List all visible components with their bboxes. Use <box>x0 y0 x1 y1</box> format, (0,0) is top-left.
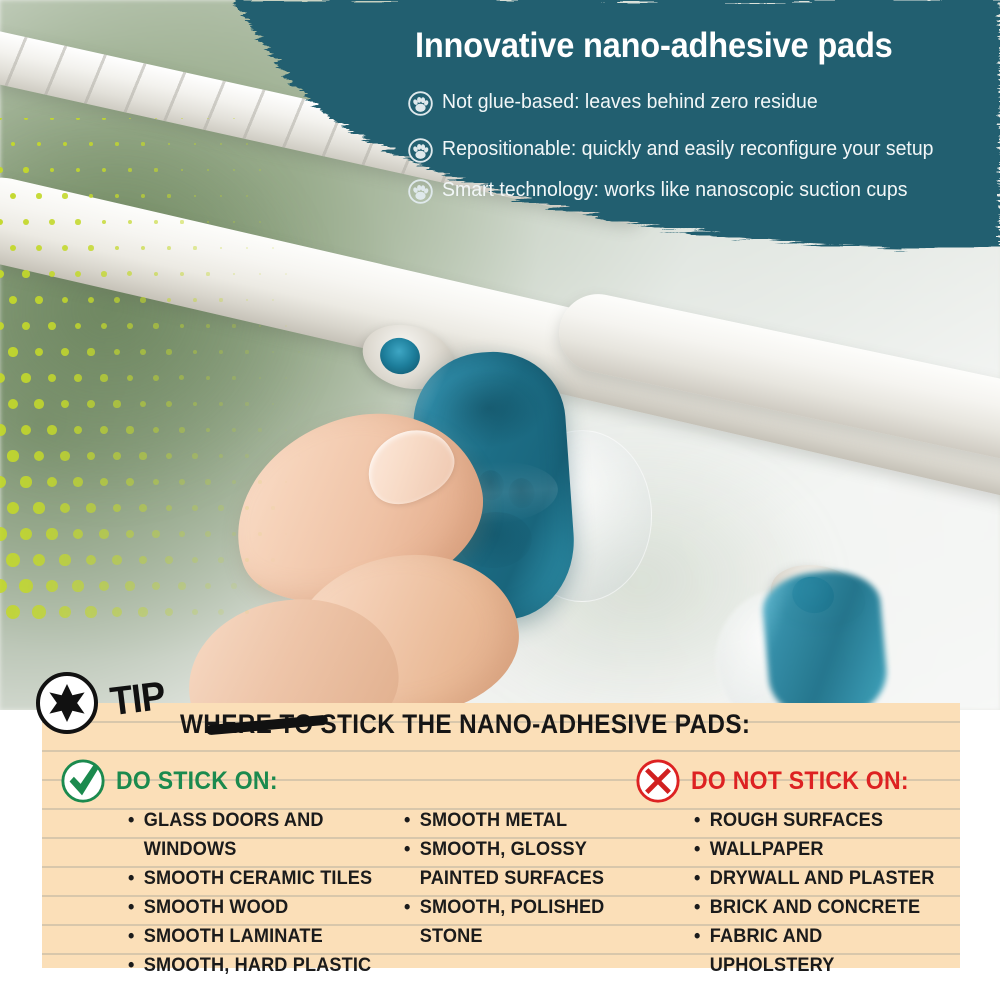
halftone-dot <box>126 530 135 539</box>
halftone-dot <box>47 425 56 434</box>
halftone-dot <box>218 609 224 615</box>
do-stick-label: DO STICK ON: <box>116 767 278 796</box>
halftone-dot <box>298 611 301 614</box>
halftone-dot <box>0 527 7 540</box>
halftone-dot <box>88 245 93 250</box>
tip-badge: TIP <box>36 672 167 734</box>
halftone-dot <box>59 606 71 618</box>
halftone-dot <box>139 556 147 564</box>
green-check-circle-icon <box>60 758 106 804</box>
halftone-dot <box>219 350 223 354</box>
halftone-dot <box>218 505 223 510</box>
halftone-dot <box>99 529 108 538</box>
halftone-dot <box>193 350 197 354</box>
halftone-dot <box>100 478 109 487</box>
halftone-dot <box>246 247 248 249</box>
halftone-dot <box>127 375 133 381</box>
ruled-line <box>42 750 960 752</box>
halftone-dot <box>205 531 211 537</box>
do-stick-list-column-1: GLASS DOORS AND WINDOWSSMOOTH CERAMIC TI… <box>128 806 428 980</box>
halftone-dot <box>232 428 236 432</box>
halftone-dot <box>258 428 261 431</box>
halftone-dot <box>259 377 262 380</box>
halftone-dot <box>179 479 185 485</box>
list-item: SMOOTH LAMINATE <box>128 922 407 951</box>
halftone-dot <box>46 528 57 539</box>
halftone-dot <box>62 245 68 251</box>
halftone-dot <box>87 452 96 461</box>
halftone-dot <box>113 400 120 407</box>
halftone-dot <box>179 531 186 538</box>
halftone-dot <box>126 478 134 486</box>
halftone-dot <box>284 584 287 587</box>
halftone-dot <box>285 481 288 484</box>
halftone-dot <box>166 401 172 407</box>
list-item: FABRIC AND UPHOLSTERY <box>694 922 945 980</box>
halftone-dot <box>33 554 45 566</box>
halftone-dot <box>180 272 184 276</box>
halftone-dot <box>74 426 83 435</box>
do-not-stick-list: ROUGH SURFACESWALLPAPERDRYWALL AND PLAST… <box>694 806 964 980</box>
halftone-dot <box>99 581 109 591</box>
halftone-dot <box>245 558 249 562</box>
halftone-dot <box>10 245 17 252</box>
halftone-dot <box>272 455 275 458</box>
halftone-dot <box>153 375 159 381</box>
halftone-dot <box>245 350 248 353</box>
halftone-dot <box>245 610 250 615</box>
do-not-stick-header: DO NOT STICK ON: <box>635 758 928 804</box>
list-item: SMOOTH, GLOSSY PAINTED SURFACES <box>404 835 627 893</box>
halftone-dot <box>35 296 42 303</box>
halftone-dot <box>100 426 108 434</box>
list-item: BRICK AND CONCRETE <box>694 893 945 922</box>
halftone-dot <box>166 453 172 459</box>
list-item: SMOOTH METAL <box>404 806 627 835</box>
halftone-dot <box>219 402 223 406</box>
halftone-dot <box>48 322 56 330</box>
halftone-dot <box>59 554 70 565</box>
halftone-dot <box>35 348 43 356</box>
halftone-dot <box>205 479 210 484</box>
halftone-dot <box>206 272 209 275</box>
halftone-dot <box>206 376 210 380</box>
halftone-dot <box>271 610 275 614</box>
halftone-dot <box>272 299 274 301</box>
halftone-dot <box>88 297 94 303</box>
halftone-dot <box>165 608 173 616</box>
halftone-dot <box>75 271 81 277</box>
halftone-dot <box>21 425 31 435</box>
halftone-dot <box>0 373 5 383</box>
halftone-dot <box>285 377 287 379</box>
list-item: SMOOTH, POLISHED STONE <box>404 893 627 951</box>
halftone-dot <box>311 533 313 535</box>
halftone-dot <box>311 429 313 431</box>
halftone-dot <box>46 580 58 592</box>
page-title: Innovative nano-adhesive pads <box>415 28 950 65</box>
halftone-dot <box>0 579 7 593</box>
halftone-dot <box>115 246 120 251</box>
halftone-dot <box>193 402 198 407</box>
halftone-dot <box>75 323 82 330</box>
halftone-dot <box>9 296 17 304</box>
halftone-dot <box>22 322 30 330</box>
halftone-dot <box>180 324 184 328</box>
halftone-dot <box>232 532 237 537</box>
halftone-dot <box>219 298 222 301</box>
halftone-dot <box>8 347 17 356</box>
halftone-dot <box>233 273 236 276</box>
halftone-dot <box>139 504 147 512</box>
paw-print-icon <box>408 179 433 204</box>
paw-print-icon <box>408 91 433 116</box>
list-item: GLASS DOORS AND WINDOWS <box>128 806 407 864</box>
feature-bullet: Smart technology: works like nanoscopic … <box>408 178 998 204</box>
halftone-dot <box>324 611 326 613</box>
halftone-dot <box>285 429 287 431</box>
halftone-dot <box>192 609 199 616</box>
halftone-dot <box>86 503 96 513</box>
halftone-dot <box>73 477 83 487</box>
halftone-dot <box>101 323 107 329</box>
halftone-dot <box>113 504 122 513</box>
halftone-dot <box>139 452 146 459</box>
feature-bullet-label: Not glue-based: leaves behind zero resid… <box>442 90 818 114</box>
halftone-dot <box>153 427 159 433</box>
halftone-dot <box>8 399 18 409</box>
halftone-dot <box>285 325 287 327</box>
halftone-dot <box>298 403 300 405</box>
halftone-dot <box>193 298 197 302</box>
halftone-dot <box>127 323 133 329</box>
halftone-dot <box>232 480 236 484</box>
halftone-dot <box>140 349 146 355</box>
halftone-dot <box>87 400 95 408</box>
halftone-dot <box>259 325 262 328</box>
halftone-dot <box>20 476 31 487</box>
halftone-dot <box>245 454 249 458</box>
list-item: SMOOTH CERAMIC TILES <box>128 864 407 893</box>
halftone-dot <box>112 555 121 564</box>
halftone-dot <box>219 454 224 459</box>
do-stick-header: DO STICK ON: <box>60 758 292 804</box>
halftone-dot <box>192 557 198 563</box>
halftone-dot <box>62 297 69 304</box>
halftone-dot <box>192 505 198 511</box>
halftone-dot <box>0 424 6 435</box>
halftone-dot <box>271 558 275 562</box>
halftone-dot <box>86 555 96 565</box>
halftone-dot <box>73 529 83 539</box>
halftone-dot <box>178 582 185 589</box>
list-item: DRYWALL AND PLASTER <box>694 864 945 893</box>
halftone-dot <box>138 607 147 616</box>
halftone-dot <box>152 530 160 538</box>
halftone-dot <box>49 271 56 278</box>
halftone-dot <box>298 351 300 353</box>
halftone-dot <box>272 403 275 406</box>
halftone-dot <box>259 273 261 275</box>
halftone-dot <box>245 402 248 405</box>
socket-hole <box>376 334 424 379</box>
halftone-dot <box>126 426 133 433</box>
list-item: ROUGH SURFACES <box>694 806 945 835</box>
halftone-dot <box>140 297 145 302</box>
halftone-dot <box>311 585 313 587</box>
halftone-dot <box>21 373 30 382</box>
halftone-dot <box>166 505 173 512</box>
halftone-dot <box>125 581 134 590</box>
halftone-dot <box>85 606 96 617</box>
list-item: SMOOTH, HARD PLASTIC <box>128 951 407 980</box>
halftone-dot <box>154 272 158 276</box>
halftone-dot <box>152 582 160 590</box>
halftone-dot <box>114 349 120 355</box>
halftone-dot <box>245 506 249 510</box>
halftone-dot <box>166 349 171 354</box>
halftone-dot <box>36 245 42 251</box>
halftone-dot <box>34 451 44 461</box>
halftone-dot <box>285 533 288 536</box>
halftone-dot <box>60 503 70 513</box>
halftone-dot <box>19 579 32 592</box>
halftone-dot <box>6 553 19 566</box>
halftone-dot <box>127 271 132 276</box>
halftone-dot <box>87 348 94 355</box>
halftone-dot <box>231 583 236 588</box>
halftone-dot <box>0 270 4 278</box>
halftone-dot <box>60 451 70 461</box>
halftone-dot <box>7 502 19 514</box>
header-content: Innovative nano-adhesive pads Not glue-b… <box>0 0 1000 240</box>
halftone-dot <box>167 246 171 250</box>
halftone-dot <box>206 324 210 328</box>
halftone-dot <box>285 273 287 275</box>
halftone-dot <box>205 583 211 589</box>
tip-label: TIP <box>108 673 168 724</box>
nano-adhesive-pad-secondary <box>760 567 890 710</box>
halftone-dot <box>193 246 196 249</box>
list-item: WALLPAPER <box>694 835 945 864</box>
halftone-dot <box>218 557 223 562</box>
halftone-dot <box>61 400 70 409</box>
halftone-dot <box>32 605 45 618</box>
halftone-dot <box>34 399 43 408</box>
halftone-dot <box>192 453 197 458</box>
feature-bullet-label: Repositionable: quickly and easily recon… <box>442 137 933 161</box>
halftone-dot <box>179 375 184 380</box>
halftone-dot <box>141 246 145 250</box>
halftone-dot <box>232 324 235 327</box>
halftone-dot <box>114 297 120 303</box>
halftone-dot <box>153 323 158 328</box>
halftone-dot <box>22 270 29 277</box>
halftone-dot <box>72 580 83 591</box>
list-item: SMOOTH WOOD <box>128 893 407 922</box>
halftone-dot <box>167 298 171 302</box>
halftone-dot <box>20 528 32 540</box>
six-point-star-icon <box>47 683 87 723</box>
halftone-dot <box>179 427 185 433</box>
halftone-dot <box>113 452 121 460</box>
feature-bullet: Repositionable: quickly and easily recon… <box>408 137 998 163</box>
halftone-dot <box>61 348 69 356</box>
halftone-dot <box>165 556 172 563</box>
halftone-dot <box>74 374 82 382</box>
halftone-dot <box>0 476 6 488</box>
do-stick-list-column-2: SMOOTH METALSMOOTH, GLOSSY PAINTED SURFA… <box>404 806 644 951</box>
halftone-dot <box>258 532 262 536</box>
halftone-dot <box>48 374 57 383</box>
do-not-stick-label: DO NOT STICK ON: <box>691 767 909 796</box>
red-x-circle-icon <box>635 758 681 804</box>
halftone-dot <box>206 428 211 433</box>
halftone-dot <box>47 477 57 487</box>
feature-bullet-label: Smart technology: works like nanoscopic … <box>442 178 907 202</box>
halftone-dot <box>272 247 274 249</box>
halftone-dot <box>33 502 44 513</box>
halftone-dot <box>298 507 300 509</box>
halftone-dot <box>298 455 300 457</box>
halftone-dot <box>220 247 223 250</box>
halftone-dot <box>246 299 249 302</box>
halftone-dot <box>153 479 160 486</box>
halftone-dot <box>272 351 274 353</box>
halftone-dot <box>258 584 262 588</box>
halftone-dot <box>232 376 236 380</box>
feature-bullet: Not glue-based: leaves behind zero resid… <box>408 90 998 116</box>
halftone-dot <box>271 506 274 509</box>
star-badge-circle <box>36 672 98 734</box>
halftone-dot <box>7 450 18 461</box>
halftone-dot <box>311 481 313 483</box>
halftone-dot <box>112 607 122 617</box>
halftone-dot <box>101 271 107 277</box>
halftone-dot <box>6 605 20 619</box>
halftone-dot <box>100 374 107 381</box>
halftone-dot <box>298 559 301 562</box>
halftone-dot <box>0 322 4 331</box>
halftone-dot <box>258 480 262 484</box>
paw-print-icon <box>408 138 433 163</box>
halftone-dot <box>140 401 146 407</box>
